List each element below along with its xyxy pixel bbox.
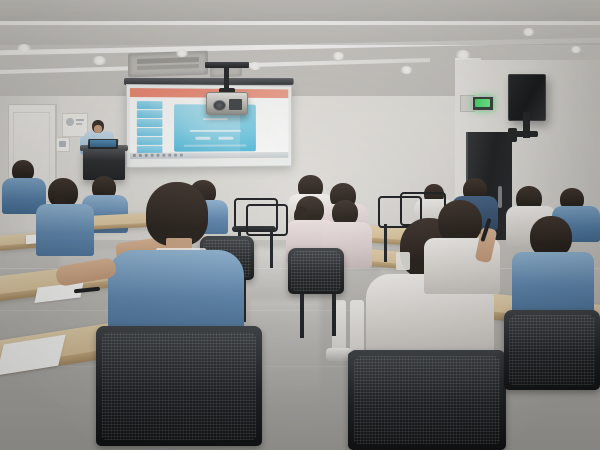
downlight-icon	[175, 49, 189, 57]
monitor-wall-plate	[508, 128, 517, 142]
downlight-icon	[400, 66, 413, 74]
ac-vent-icon	[128, 51, 208, 78]
downlight-icon	[522, 28, 535, 36]
attendee-torso	[36, 204, 94, 256]
mesh-chair-back[interactable]	[288, 248, 344, 294]
chair-leg	[384, 224, 387, 262]
slide-taskbar	[130, 152, 288, 159]
attendee-face-mask	[396, 252, 410, 270]
chair-leg	[300, 294, 304, 338]
projector-lens-icon	[213, 100, 226, 111]
slide-sidebar-chip	[137, 110, 163, 118]
slide-sidebar-chip	[137, 137, 163, 145]
attendee-torso	[512, 252, 594, 314]
training-room-photo	[0, 0, 600, 450]
chair-leg	[332, 294, 336, 336]
stacking-chair[interactable]	[246, 204, 288, 236]
mesh-chair-back[interactable]	[96, 326, 262, 446]
downlight-icon	[16, 44, 32, 53]
attendee-leg	[350, 300, 364, 352]
projector-vent	[229, 99, 242, 110]
downlight-icon	[332, 52, 345, 60]
attendee-head	[146, 182, 208, 246]
slide-sidebar-chip	[137, 128, 163, 136]
exit-sign-icon	[472, 96, 494, 111]
mesh-chair-back[interactable]	[504, 310, 600, 390]
slide-sidebar-chip	[137, 119, 163, 127]
laptop-screen	[90, 140, 116, 147]
door-handle-icon[interactable]	[498, 186, 502, 208]
downlight-icon	[248, 62, 262, 70]
downlight-icon	[570, 46, 582, 53]
mesh-chair-back[interactable]	[348, 350, 506, 450]
attendee-torso	[108, 250, 244, 336]
downlight-icon	[92, 56, 107, 65]
wall-sign-icon	[56, 137, 70, 152]
slide-sidebar-chip	[137, 101, 163, 109]
presenter-face	[94, 125, 102, 133]
